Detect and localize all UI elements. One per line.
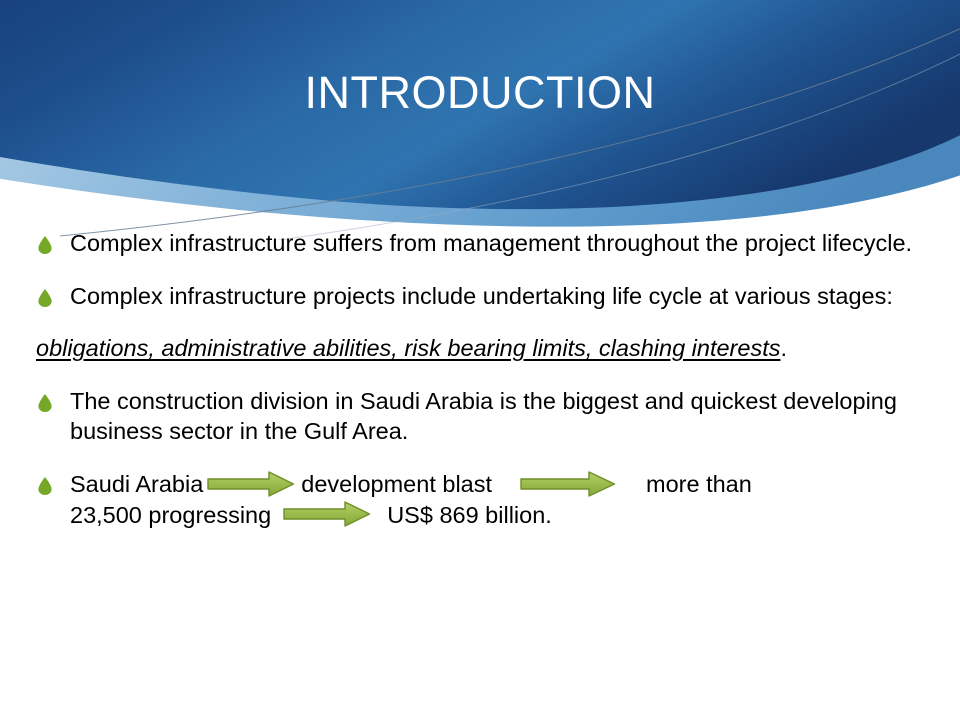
bullet-text: Complex infrastructure projects include … xyxy=(70,283,893,309)
bullet-item-2: Complex infrastructure projects include … xyxy=(0,281,960,312)
right-arrow-icon xyxy=(520,470,616,498)
teardrop-bullet-icon xyxy=(38,236,52,254)
teardrop-bullet-icon xyxy=(38,289,52,307)
arrow-line-segment-5: US$ 869 billion. xyxy=(387,502,552,528)
bullet-item-1: Complex infrastructure suffers from mana… xyxy=(0,228,960,259)
right-arrow-icon xyxy=(283,500,371,528)
emphasis-underlined-text: obligations, administrative abilities, r… xyxy=(36,335,780,361)
right-arrow-icon xyxy=(207,470,295,498)
slide-header-banner: INTRODUCTION xyxy=(0,0,960,240)
slide-body: Complex infrastructure suffers from mana… xyxy=(0,228,960,552)
bullet-text: The construction division in Saudi Arabi… xyxy=(70,388,897,445)
emphasis-trailing-period: . xyxy=(780,335,787,361)
presentation-slide: INTRODUCTION Complex infrastructure suff… xyxy=(0,0,960,720)
bullet-text: Complex infrastructure suffers from mana… xyxy=(70,230,912,256)
emphasis-line: obligations, administrative abilities, r… xyxy=(0,333,960,364)
bullet-item-3: The construction division in Saudi Arabi… xyxy=(0,386,960,447)
page-title: INTRODUCTION xyxy=(0,68,960,118)
arrow-line-segment-3: more than xyxy=(646,471,752,497)
bullet-item-arrows: Saudi Arabia development blast xyxy=(0,469,960,531)
arrow-line-segment-4: 23,500 progressing xyxy=(70,502,271,528)
teardrop-bullet-icon xyxy=(38,394,52,412)
arrow-line-segment-1: Saudi Arabia xyxy=(70,471,203,497)
teardrop-bullet-icon xyxy=(38,477,52,495)
arrow-line-segment-2: development blast xyxy=(301,471,492,497)
